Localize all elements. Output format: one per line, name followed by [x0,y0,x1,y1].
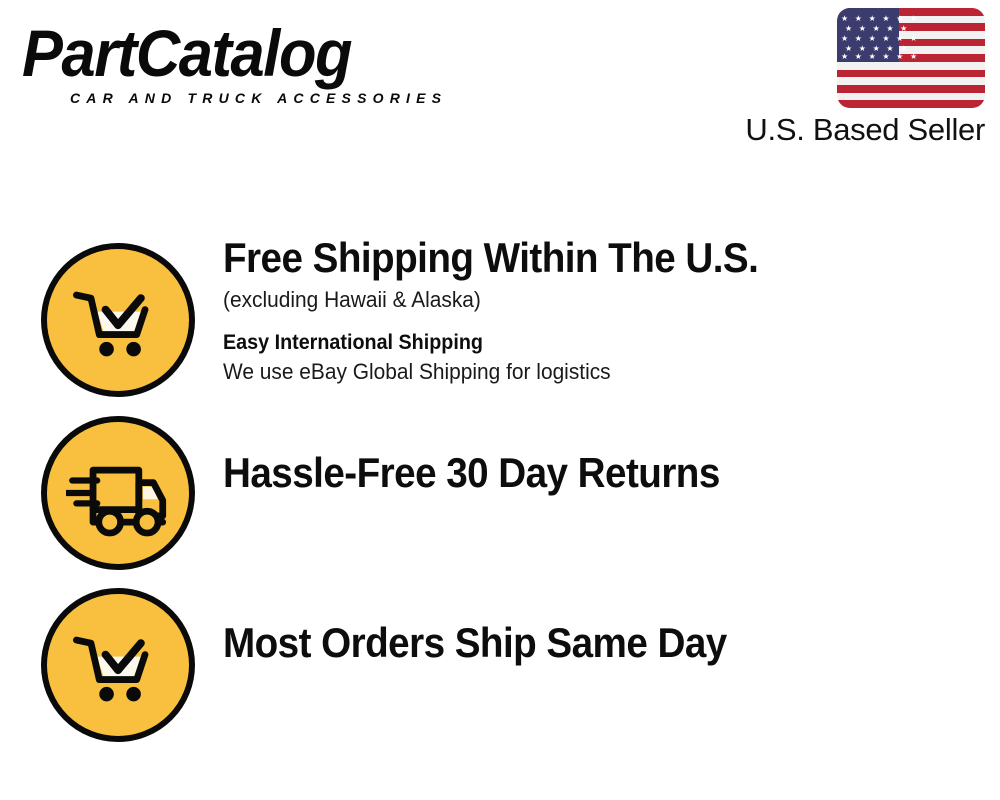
flag-star-row: ★ ★ ★ ★ ★ ★ [841,14,903,23]
feature-row: Most Orders Ship Same Day [0,575,1000,750]
us-based-seller-badge: ★ ★ ★ ★ ★ ★ ★ ★ ★ ★ ★ ★ ★ ★ ★ ★ ★ ★ ★ ★ … [685,8,985,148]
feature-headline: Free Shipping Within The U.S. [223,233,919,283]
brand-logo[interactable]: PartCatalog CAR AND TRUCK ACCESSORIES [22,18,492,106]
feature-row: Free Shipping Within The U.S. (excluding… [0,225,1000,405]
us-flag-icon: ★ ★ ★ ★ ★ ★ ★ ★ ★ ★ ★ ★ ★ ★ ★ ★ ★ ★ ★ ★ … [837,8,985,108]
cart-check-icon [41,588,195,742]
flag-stripe [837,62,985,70]
feature-sub-heading: Easy International Shipping [223,329,935,356]
promo-banner: PartCatalog CAR AND TRUCK ACCESSORIES [0,0,1000,800]
flag-stripe [837,77,985,85]
delivery-truck-icon [41,416,195,570]
flag-stripe [837,85,985,93]
feature-text-block: Most Orders Ship Same Day [223,618,980,668]
flag-stripe [837,100,985,108]
flag-star-row: ★ ★ ★ ★ ★ [845,24,907,33]
brand-wordmark: PartCatalog [22,18,459,88]
brand-tagline: CAR AND TRUCK ACCESSORIES [70,90,492,106]
feature-headline: Hassle-Free 30 Day Returns [223,448,919,498]
us-based-seller-label: U.S. Based Seller [685,112,985,148]
flag-star-row: ★ ★ ★ ★ ★ ★ [841,34,903,43]
banner-header: PartCatalog CAR AND TRUCK ACCESSORIES [0,0,1000,170]
feature-row: Hassle-Free 30 Day Returns [0,403,1000,575]
feature-text-block: Hassle-Free 30 Day Returns [223,448,980,498]
feature-subline: (excluding Hawaii & Alaska) [223,285,942,315]
cart-check-icon [41,243,195,397]
flag-stripe [837,70,985,78]
feature-text-block: Free Shipping Within The U.S. (excluding… [223,233,980,387]
flag-stripe [837,93,985,101]
feature-sub-detail: We use eBay Global Shipping for logistic… [223,357,942,387]
flag-star-row: ★ ★ ★ ★ ★ ★ [841,52,903,61]
feature-headline: Most Orders Ship Same Day [223,618,919,668]
